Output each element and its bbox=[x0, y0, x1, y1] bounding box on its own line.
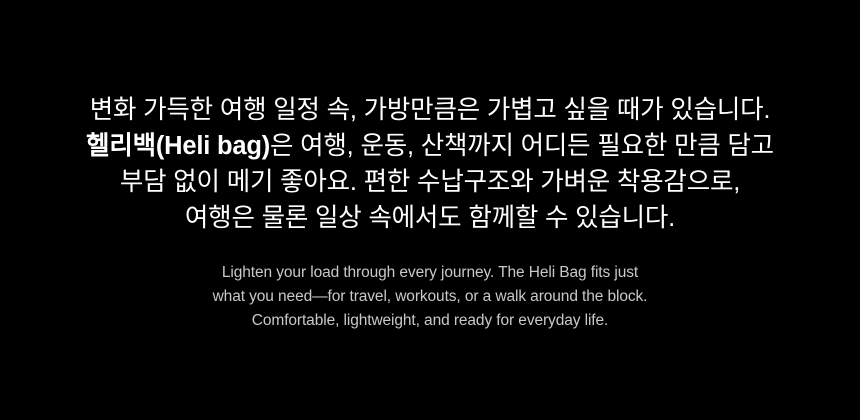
subcopy-line-1: Lighten your load through every journey.… bbox=[0, 261, 860, 285]
headline-line-1-text: 변화 가득한 여행 일정 속, 가방만큼은 가볍고 싶을 때가 있습니다. bbox=[90, 96, 771, 124]
english-subcopy: Lighten your load through every journey.… bbox=[0, 261, 860, 333]
subcopy-line-2: what you need—for travel, workouts, or a… bbox=[0, 285, 860, 309]
headline-line-4-text: 여행은 물론 일상 속에서도 함께할 수 있습니다. bbox=[185, 204, 675, 232]
korean-headline: 변화 가득한 여행 일정 속, 가방만큼은 가볍고 싶을 때가 있습니다. 헬리… bbox=[0, 92, 860, 236]
headline-line-3: 부담 없이 메기 좋아요. 편한 수납구조와 가벼운 착용감으로, bbox=[0, 164, 860, 200]
headline-line-1: 변화 가득한 여행 일정 속, 가방만큼은 가볍고 싶을 때가 있습니다. bbox=[0, 92, 860, 128]
promo-banner: 변화 가득한 여행 일정 속, 가방만큼은 가볍고 싶을 때가 있습니다. 헬리… bbox=[0, 0, 860, 420]
brand-name-emphasis: 헬리백(Heli bag) bbox=[86, 132, 270, 160]
headline-line-2-text: 은 여행, 운동, 산책까지 어디든 필요한 만큼 담고 bbox=[270, 132, 774, 160]
headline-line-2: 헬리백(Heli bag)은 여행, 운동, 산책까지 어디든 필요한 만큼 담… bbox=[0, 128, 860, 164]
headline-line-3-text: 부담 없이 메기 좋아요. 편한 수납구조와 가벼운 착용감으로, bbox=[120, 168, 740, 196]
headline-line-4: 여행은 물론 일상 속에서도 함께할 수 있습니다. bbox=[0, 200, 860, 236]
subcopy-line-3: Comfortable, lightweight, and ready for … bbox=[0, 309, 860, 333]
